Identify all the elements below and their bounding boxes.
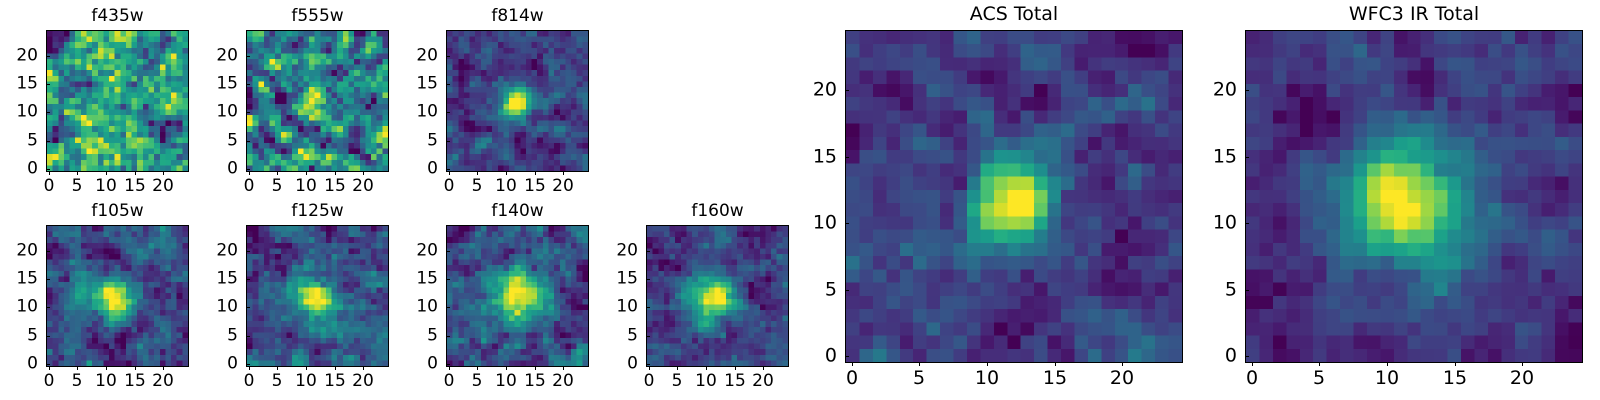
- x-tick-f435w-3: [135, 171, 136, 175]
- y-tick-wfc3-ir-total-3: [1245, 157, 1249, 158]
- x-tick-label-f435w-2: 10: [95, 177, 117, 196]
- y-tick-label-acs-total-2: 10: [813, 213, 837, 234]
- y-tick-label-f140w-1: 5: [427, 327, 438, 346]
- heatmap-image-acs-total: [845, 30, 1183, 363]
- heatmap-image-f435w: [46, 30, 189, 172]
- panel-title-f814w: f814w: [446, 6, 589, 26]
- x-tick-label-f160w-1: 5: [672, 372, 683, 391]
- x-tick-f435w-1: [77, 171, 78, 175]
- x-tick-f105w-0: [49, 366, 50, 370]
- x-tick-f105w-1: [77, 366, 78, 370]
- x-tick-label-f814w-2: 10: [495, 177, 517, 196]
- x-tick-label-f814w-4: 20: [552, 177, 574, 196]
- y-tick-label-f814w-4: 20: [416, 47, 438, 66]
- y-tick-f160w-3: [646, 279, 650, 280]
- x-tick-f555w-0: [249, 171, 250, 175]
- x-tick-f160w-1: [677, 366, 678, 370]
- panel-f105w: f105w0510152005101520: [46, 225, 189, 367]
- y-tick-f555w-2: [246, 112, 250, 113]
- x-tick-label-f160w-3: 15: [724, 372, 746, 391]
- x-tick-label-f555w-2: 10: [295, 177, 317, 196]
- y-tick-f555w-3: [246, 84, 250, 85]
- x-tick-label-f105w-2: 10: [95, 372, 117, 391]
- x-tick-f125w-1: [277, 366, 278, 370]
- y-tick-f140w-2: [446, 307, 450, 308]
- x-tick-label-f125w-2: 10: [295, 372, 317, 391]
- x-tick-f555w-2: [306, 171, 307, 175]
- y-tick-label-f555w-0: 0: [227, 160, 238, 179]
- panel-f555w: f555w0510152005101520: [246, 30, 389, 172]
- panel-wfc3-ir-total: WFC3 IR Total0510152005101520: [1245, 30, 1583, 363]
- heatmap-image-f125w: [246, 225, 389, 367]
- x-tick-label-f125w-1: 5: [272, 372, 283, 391]
- y-tick-label-f140w-2: 10: [416, 298, 438, 317]
- y-tick-f814w-0: [446, 169, 450, 170]
- y-tick-label-f814w-2: 10: [416, 103, 438, 122]
- x-tick-label-f160w-0: 0: [644, 372, 655, 391]
- x-tick-f435w-0: [49, 171, 50, 175]
- y-tick-label-wfc3-ir-total-1: 5: [1225, 280, 1237, 301]
- y-tick-label-f140w-0: 0: [427, 355, 438, 374]
- y-tick-label-f435w-1: 5: [27, 132, 38, 151]
- y-tick-f160w-2: [646, 307, 650, 308]
- x-tick-label-wfc3-ir-total-2: 10: [1375, 368, 1399, 389]
- y-tick-f160w-0: [646, 364, 650, 365]
- y-tick-label-f435w-2: 10: [16, 103, 38, 122]
- x-tick-f125w-2: [306, 366, 307, 370]
- x-tick-acs-total-3: [1055, 362, 1056, 366]
- x-tick-f814w-2: [506, 171, 507, 175]
- x-tick-label-acs-total-3: 15: [1043, 368, 1067, 389]
- x-tick-f140w-1: [477, 366, 478, 370]
- y-tick-label-f160w-4: 20: [616, 242, 638, 261]
- x-tick-label-acs-total-2: 10: [975, 368, 999, 389]
- y-tick-label-acs-total-1: 5: [825, 280, 837, 301]
- y-tick-label-f435w-0: 0: [27, 160, 38, 179]
- y-tick-f140w-4: [446, 251, 450, 252]
- y-tick-f435w-0: [46, 169, 50, 170]
- heatmap-image-f105w: [46, 225, 189, 367]
- panel-acs-total: ACS Total0510152005101520: [845, 30, 1183, 363]
- heatmap-image-f140w: [446, 225, 589, 367]
- y-tick-label-f140w-3: 15: [416, 270, 438, 289]
- y-tick-label-f160w-0: 0: [627, 355, 638, 374]
- y-tick-wfc3-ir-total-0: [1245, 356, 1249, 357]
- x-tick-label-f125w-3: 15: [324, 372, 346, 391]
- y-tick-label-f435w-4: 20: [16, 47, 38, 66]
- y-tick-label-acs-total-0: 0: [825, 346, 837, 367]
- x-tick-label-f105w-1: 5: [72, 372, 83, 391]
- x-tick-label-f555w-1: 5: [272, 177, 283, 196]
- x-tick-f125w-0: [249, 366, 250, 370]
- panel-title-f555w: f555w: [246, 6, 389, 26]
- y-tick-label-wfc3-ir-total-0: 0: [1225, 346, 1237, 367]
- x-tick-wfc3-ir-total-2: [1387, 362, 1388, 366]
- x-tick-acs-total-2: [987, 362, 988, 366]
- y-tick-label-f105w-1: 5: [27, 327, 38, 346]
- y-tick-label-acs-total-3: 15: [813, 147, 837, 168]
- y-tick-wfc3-ir-total-4: [1245, 90, 1249, 91]
- x-tick-label-f555w-0: 0: [244, 177, 255, 196]
- x-tick-label-f435w-1: 5: [72, 177, 83, 196]
- y-tick-f140w-3: [446, 279, 450, 280]
- y-tick-acs-total-3: [845, 157, 849, 158]
- x-tick-label-f555w-4: 20: [352, 177, 374, 196]
- x-tick-label-acs-total-1: 5: [913, 368, 925, 389]
- x-tick-f160w-2: [706, 366, 707, 370]
- y-tick-label-f555w-1: 5: [227, 132, 238, 151]
- x-tick-label-f435w-3: 15: [124, 177, 146, 196]
- y-tick-label-wfc3-ir-total-2: 10: [1213, 213, 1237, 234]
- panel-f814w: f814w0510152005101520: [446, 30, 589, 172]
- y-tick-label-wfc3-ir-total-4: 20: [1213, 80, 1237, 101]
- panel-title-wfc3-ir-total: WFC3 IR Total: [1245, 3, 1583, 25]
- x-tick-f125w-3: [335, 366, 336, 370]
- x-tick-label-f140w-4: 20: [552, 372, 574, 391]
- y-tick-label-f555w-4: 20: [216, 47, 238, 66]
- figure-canvas: f435w0510152005101520f555w05101520051015…: [0, 0, 1600, 400]
- y-tick-f435w-2: [46, 112, 50, 113]
- x-tick-label-f125w-4: 20: [352, 372, 374, 391]
- x-tick-label-f105w-4: 20: [152, 372, 174, 391]
- x-tick-label-f160w-2: 10: [695, 372, 717, 391]
- x-tick-f140w-4: [563, 366, 564, 370]
- y-tick-f125w-4: [246, 251, 250, 252]
- x-tick-wfc3-ir-total-3: [1455, 362, 1456, 366]
- x-tick-label-acs-total-4: 20: [1110, 368, 1134, 389]
- x-tick-f140w-0: [449, 366, 450, 370]
- x-tick-label-f435w-4: 20: [152, 177, 174, 196]
- y-tick-f555w-4: [246, 56, 250, 57]
- x-tick-label-f814w-3: 15: [524, 177, 546, 196]
- panel-title-f435w: f435w: [46, 6, 189, 26]
- x-tick-f140w-3: [535, 366, 536, 370]
- y-tick-label-f814w-3: 15: [416, 75, 438, 94]
- y-tick-acs-total-1: [845, 290, 849, 291]
- y-tick-f125w-3: [246, 279, 250, 280]
- y-tick-label-f125w-2: 10: [216, 298, 238, 317]
- panel-title-f160w: f160w: [646, 201, 789, 221]
- x-tick-label-f140w-3: 15: [524, 372, 546, 391]
- y-tick-f140w-0: [446, 364, 450, 365]
- x-tick-label-wfc3-ir-total-1: 5: [1313, 368, 1325, 389]
- x-tick-wfc3-ir-total-1: [1319, 362, 1320, 366]
- x-tick-wfc3-ir-total-0: [1252, 362, 1253, 366]
- y-tick-f435w-4: [46, 56, 50, 57]
- y-tick-wfc3-ir-total-1: [1245, 290, 1249, 291]
- x-tick-label-f105w-0: 0: [44, 372, 55, 391]
- x-tick-acs-total-1: [919, 362, 920, 366]
- x-tick-label-acs-total-0: 0: [846, 368, 858, 389]
- panel-title-acs-total: ACS Total: [845, 3, 1183, 25]
- x-tick-label-f555w-3: 15: [324, 177, 346, 196]
- panel-title-f105w: f105w: [46, 201, 189, 221]
- y-tick-f125w-2: [246, 307, 250, 308]
- x-tick-f435w-2: [106, 171, 107, 175]
- y-tick-acs-total-4: [845, 90, 849, 91]
- x-tick-f105w-4: [163, 366, 164, 370]
- x-tick-f555w-4: [363, 171, 364, 175]
- panel-f125w: f125w0510152005101520: [246, 225, 389, 367]
- y-tick-f814w-4: [446, 56, 450, 57]
- y-tick-label-f105w-0: 0: [27, 355, 38, 374]
- x-tick-wfc3-ir-total-4: [1522, 362, 1523, 366]
- y-tick-label-f105w-3: 15: [16, 270, 38, 289]
- x-tick-f814w-1: [477, 171, 478, 175]
- y-tick-f814w-2: [446, 112, 450, 113]
- y-tick-f125w-1: [246, 336, 250, 337]
- y-tick-f160w-4: [646, 251, 650, 252]
- y-tick-label-acs-total-4: 20: [813, 80, 837, 101]
- panel-f140w: f140w0510152005101520: [446, 225, 589, 367]
- x-tick-f160w-3: [735, 366, 736, 370]
- x-tick-label-wfc3-ir-total-0: 0: [1246, 368, 1258, 389]
- heatmap-image-wfc3-ir-total: [1245, 30, 1583, 363]
- y-tick-label-f125w-3: 15: [216, 270, 238, 289]
- x-tick-f125w-4: [363, 366, 364, 370]
- y-tick-f435w-3: [46, 84, 50, 85]
- x-tick-f140w-2: [506, 366, 507, 370]
- heatmap-image-f814w: [446, 30, 589, 172]
- panel-title-f125w: f125w: [246, 201, 389, 221]
- y-tick-acs-total-0: [845, 356, 849, 357]
- panel-f160w: f160w0510152005101520: [646, 225, 789, 367]
- x-tick-label-f140w-0: 0: [444, 372, 455, 391]
- heatmap-image-f160w: [646, 225, 789, 367]
- x-tick-f105w-3: [135, 366, 136, 370]
- y-tick-label-f555w-3: 15: [216, 75, 238, 94]
- y-tick-f105w-4: [46, 251, 50, 252]
- y-tick-label-f160w-1: 5: [627, 327, 638, 346]
- y-tick-label-f105w-4: 20: [16, 242, 38, 261]
- x-tick-label-f105w-3: 15: [124, 372, 146, 391]
- y-tick-f105w-3: [46, 279, 50, 280]
- x-tick-acs-total-4: [1122, 362, 1123, 366]
- y-tick-label-f125w-4: 20: [216, 242, 238, 261]
- y-tick-f140w-1: [446, 336, 450, 337]
- y-tick-label-f140w-4: 20: [416, 242, 438, 261]
- y-tick-f105w-2: [46, 307, 50, 308]
- x-tick-acs-total-0: [852, 362, 853, 366]
- x-tick-label-f814w-1: 5: [472, 177, 483, 196]
- y-tick-f105w-0: [46, 364, 50, 365]
- x-tick-label-f160w-4: 20: [752, 372, 774, 391]
- heatmap-image-f555w: [246, 30, 389, 172]
- y-tick-f814w-1: [446, 141, 450, 142]
- y-tick-f105w-1: [46, 336, 50, 337]
- x-tick-f555w-3: [335, 171, 336, 175]
- y-tick-label-f105w-2: 10: [16, 298, 38, 317]
- x-tick-label-f814w-0: 0: [444, 177, 455, 196]
- x-tick-label-wfc3-ir-total-4: 20: [1510, 368, 1534, 389]
- x-tick-label-f140w-1: 5: [472, 372, 483, 391]
- y-tick-label-f160w-2: 10: [616, 298, 638, 317]
- x-tick-f814w-0: [449, 171, 450, 175]
- y-tick-label-f125w-1: 5: [227, 327, 238, 346]
- y-tick-label-f160w-3: 15: [616, 270, 638, 289]
- panel-f435w: f435w0510152005101520: [46, 30, 189, 172]
- x-tick-f160w-0: [649, 366, 650, 370]
- y-tick-f555w-0: [246, 169, 250, 170]
- y-tick-label-f814w-1: 5: [427, 132, 438, 151]
- y-tick-f555w-1: [246, 141, 250, 142]
- y-tick-label-f555w-2: 10: [216, 103, 238, 122]
- y-tick-f814w-3: [446, 84, 450, 85]
- x-tick-f105w-2: [106, 366, 107, 370]
- y-tick-f160w-1: [646, 336, 650, 337]
- x-tick-f160w-4: [763, 366, 764, 370]
- x-tick-f555w-1: [277, 171, 278, 175]
- x-tick-label-f435w-0: 0: [44, 177, 55, 196]
- x-tick-label-wfc3-ir-total-3: 15: [1443, 368, 1467, 389]
- y-tick-label-f435w-3: 15: [16, 75, 38, 94]
- y-tick-f125w-0: [246, 364, 250, 365]
- x-tick-f814w-4: [563, 171, 564, 175]
- x-tick-label-f140w-2: 10: [495, 372, 517, 391]
- y-tick-wfc3-ir-total-2: [1245, 223, 1249, 224]
- x-tick-label-f125w-0: 0: [244, 372, 255, 391]
- y-tick-label-f814w-0: 0: [427, 160, 438, 179]
- y-tick-label-wfc3-ir-total-3: 15: [1213, 147, 1237, 168]
- panel-title-f140w: f140w: [446, 201, 589, 221]
- y-tick-label-f125w-0: 0: [227, 355, 238, 374]
- x-tick-f814w-3: [535, 171, 536, 175]
- y-tick-acs-total-2: [845, 223, 849, 224]
- x-tick-f435w-4: [163, 171, 164, 175]
- y-tick-f435w-1: [46, 141, 50, 142]
